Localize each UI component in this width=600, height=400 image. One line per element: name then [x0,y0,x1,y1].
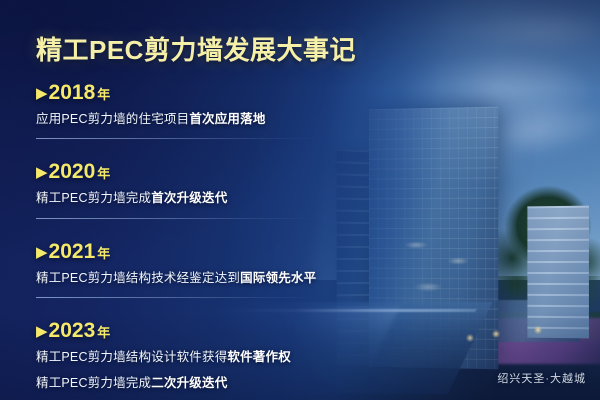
poster-root: 精工PEC剪力墙发展大事记 ▶ 2018 年 应用PEC剪力墙的住宅项目首次应用… [0,0,600,400]
timeline-year-2021: ▶ 2021 年 [36,241,336,263]
play-triangle-icon: ▶ [36,324,48,340]
watermark-label: 绍兴天圣·大越城 [497,370,586,386]
desc-bold: 二次升级迭代 [151,376,227,390]
timeline-year-2018: ▶ 2018 年 [36,82,336,104]
year-suffix: 年 [97,326,110,340]
desc-normal: 精工PEC剪力墙完成 [36,191,151,205]
timeline-entry-2018: ▶ 2018 年 应用PEC剪力墙的住宅项目首次应用落地 [36,82,336,139]
year-number: 2020 [49,161,96,183]
timeline-description: 精工PEC剪力墙结构技术经鉴定达到国际领先水平 [36,269,336,288]
content-layer: 精工PEC剪力墙发展大事记 ▶ 2018 年 应用PEC剪力墙的住宅项目首次应用… [0,0,600,400]
desc-normal: 精工PEC剪力墙结构技术经鉴定达到 [36,271,240,285]
play-triangle-icon: ▶ [36,245,48,261]
timeline-list: ▶ 2018 年 应用PEC剪力墙的住宅项目首次应用落地 ▶ 2020 年 [36,82,336,393]
play-triangle-icon: ▶ [36,86,48,102]
desc-normal: 精工PEC剪力墙完成 [36,376,151,390]
year-suffix: 年 [97,247,110,261]
play-triangle-icon: ▶ [36,165,48,181]
timeline-description: 精工PEC剪力墙结构设计软件获得软件著作权 [36,348,336,367]
timeline-entry-2020: ▶ 2020 年 精工PEC剪力墙完成首次升级迭代 [36,161,336,218]
timeline-divider [36,297,318,298]
timeline-description: 应用PEC剪力墙的住宅项目首次应用落地 [36,110,336,129]
timeline-divider [36,138,318,139]
page-title: 精工PEC剪力墙发展大事记 [36,30,356,67]
desc-normal: 应用PEC剪力墙的住宅项目 [36,112,189,126]
timeline-entry-2021: ▶ 2021 年 精工PEC剪力墙结构技术经鉴定达到国际领先水平 [36,241,336,298]
desc-bold: 国际领先水平 [240,271,316,285]
timeline-description: 精工PEC剪力墙完成首次升级迭代 [36,189,336,208]
desc-normal: 精工PEC剪力墙结构设计软件获得 [36,350,227,364]
timeline-divider [36,218,318,219]
year-number: 2018 [49,82,96,104]
desc-bold: 首次升级迭代 [151,191,227,205]
desc-bold: 首次应用落地 [189,112,265,126]
year-suffix: 年 [97,88,110,102]
year-number: 2023 [49,320,96,342]
year-number: 2021 [49,241,96,263]
timeline-year-2023: ▶ 2023 年 [36,320,336,342]
timeline-entry-2023: ▶ 2023 年 精工PEC剪力墙结构设计软件获得软件著作权 精工PEC剪力墙完… [36,320,336,393]
desc-bold: 软件著作权 [227,350,291,364]
timeline-description: 精工PEC剪力墙完成二次升级迭代 [36,374,336,393]
year-suffix: 年 [97,167,110,181]
timeline-year-2020: ▶ 2020 年 [36,161,336,183]
